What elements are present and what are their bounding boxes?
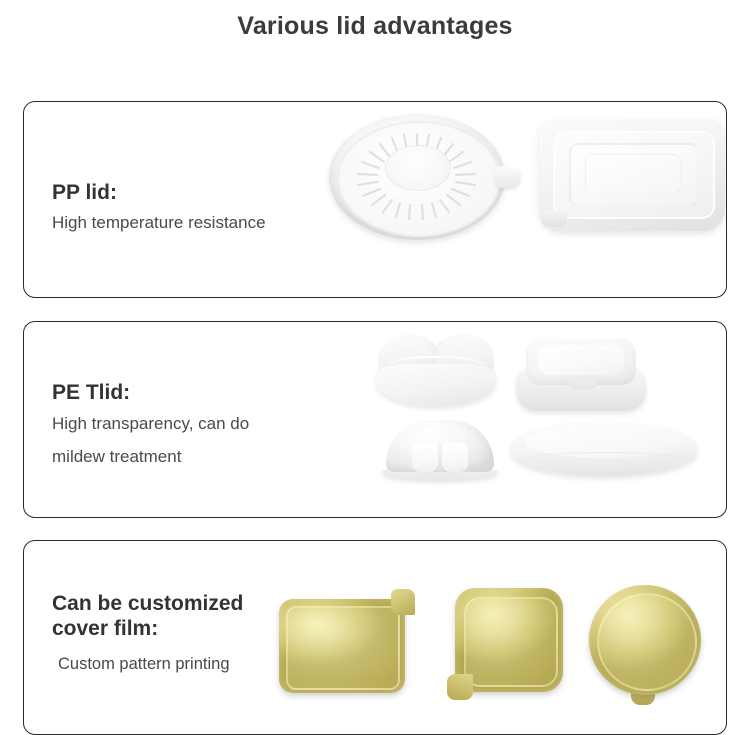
round-pp-lid-tab — [495, 166, 521, 188]
card-custom-cover-film-heading-line-1: Can be customized — [52, 591, 243, 616]
gold-round-inner-panel — [597, 593, 697, 691]
dome-lid-facet-right — [442, 442, 468, 472]
card-custom-cover-film-heading-line-2: cover film: — [52, 616, 243, 641]
square-pet-lid-image — [516, 339, 646, 415]
card-custom-cover-film[interactable]: Can be customized cover film: Custom pat… — [23, 540, 727, 735]
rectangular-pp-lid-image — [539, 119, 727, 241]
gold-round-foil-lid-image — [589, 585, 711, 707]
dome-lid-facet-left — [412, 442, 438, 472]
rectangular-pp-lid-tab — [541, 211, 567, 227]
dome-lid-dome — [386, 420, 494, 472]
card-pp-lid-description: High temperature resistance — [52, 208, 266, 237]
card-pe-t-lid-description-line-2: mildew treatment — [52, 442, 249, 471]
card-pe-t-lid-heading: PE Tlid: — [52, 380, 249, 405]
gold-square-inner-panel — [464, 597, 558, 687]
round-pp-lid-image — [329, 114, 525, 244]
heart-lid-seam — [386, 356, 486, 388]
oval-flat-pet-lid-image — [511, 422, 697, 480]
round-pp-lid-center — [385, 145, 451, 191]
card-pe-t-lid-text: PE Tlid: High transparency, can do milde… — [52, 380, 249, 471]
infographic-root: Various lid advantages PP lid: High temp… — [0, 0, 750, 44]
gold-rect-tab — [391, 589, 415, 615]
gold-square-tab — [447, 674, 473, 700]
card-pp-lid-heading: PP lid: — [52, 180, 266, 205]
heart-shaped-pet-lid-image — [376, 334, 496, 412]
gold-rect-inner-panel — [286, 606, 400, 690]
card-custom-cover-film-description: Custom pattern printing — [58, 650, 243, 679]
card-custom-cover-film-text: Can be customized cover film: Custom pat… — [52, 591, 243, 679]
card-pe-t-lid[interactable]: PE Tlid: High transparency, can do milde… — [23, 321, 727, 518]
gold-rectangular-foil-lid-image — [279, 589, 415, 699]
card-pp-lid[interactable]: PP lid: High temperature resistance — [23, 101, 727, 298]
gold-square-foil-lid-image — [447, 588, 567, 706]
oval-lid-seam — [519, 452, 689, 471]
rectangular-pp-lid-ridge-inner — [585, 154, 681, 194]
round-dome-pet-lid-image — [382, 420, 498, 482]
square-pet-lid-highlight — [538, 345, 624, 375]
square-pet-lid-notch — [568, 379, 596, 389]
card-pp-lid-text: PP lid: High temperature resistance — [52, 180, 266, 237]
page-title: Various lid advantages — [0, 0, 750, 44]
card-pe-t-lid-description-line-1: High transparency, can do — [52, 409, 249, 438]
